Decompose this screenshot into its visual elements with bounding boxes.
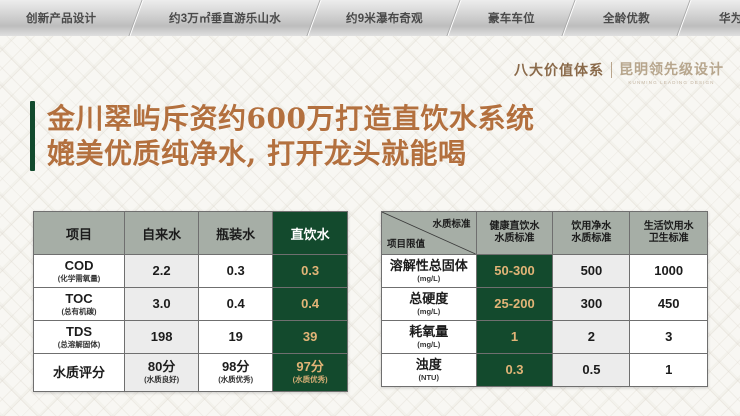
table-row: COD (化学需氧量) 2.2 0.3 0.3	[34, 255, 348, 288]
tab-label: 约9米瀑布奇观	[346, 10, 423, 26]
col-header-domestic-water-standard: 生活饮用水 卫生标准	[630, 212, 708, 255]
table-row: 水质评分 80分 (水质良好) 98分 (水质优秀) 97分 (水质优秀)	[34, 354, 348, 392]
row-label-toc: TOC (总有机碳)	[34, 288, 125, 321]
row-label-unit: (mg/L)	[382, 307, 476, 317]
row-label-unit: (mg/L)	[382, 274, 476, 284]
cell-bottled: 98分 (水质优秀)	[199, 354, 273, 392]
row-label-sub: (化学需氧量)	[34, 274, 124, 284]
table-header-row: 项目 自来水 瓶装水 直饮水	[34, 212, 348, 255]
row-label-unit: (NTU)	[382, 373, 476, 383]
col-header-tap-water: 自来水	[125, 212, 199, 255]
cell-tap: 80分 (水质良好)	[125, 354, 199, 392]
tab-label: 全龄优教	[603, 10, 650, 26]
tab-1[interactable]: 约3万㎡垂直游乐山水	[129, 0, 320, 36]
table-header-row: 水质标准 项目限值 健康直饮水 水质标准 饮用净水 水质标准 生活饮用水 卫生标…	[382, 212, 708, 255]
col-header-purified-water-standard: 饮用净水 水质标准	[553, 212, 630, 255]
cell-direct: 0.4	[273, 288, 348, 321]
cell-healthy: 25-200	[476, 288, 553, 321]
table-row: 总硬度 (mg/L) 25-200 300 450	[382, 288, 708, 321]
tab-0[interactable]: 创新产品设计	[0, 0, 143, 36]
table-row: 溶解性总固体 (mg/L) 50-300 500 1000	[382, 255, 708, 288]
tab-label: 豪车车位	[488, 10, 535, 26]
row-label-oxygen-consumption: 耗氧量 (mg/L)	[382, 321, 477, 354]
row-label-main: 溶解性总固体	[382, 259, 476, 273]
row-label-tds: TDS (总溶解固体)	[34, 321, 125, 354]
headline: 金川翠屿斥资约600万打造直饮水系统 媲美优质纯净水, 打开龙头就能喝	[30, 101, 534, 171]
brand-subtitle: 昆明领先级设计	[619, 60, 724, 78]
comparison-table-left: 项目 自来水 瓶装水 直饮水 COD (化学需氧量) 2.2 0.3 0.3	[33, 211, 348, 392]
tab-label: 约3万㎡垂直游乐山水	[169, 10, 281, 26]
headline-line-1: 金川翠屿斥资约600万打造直饮水系统	[47, 101, 534, 136]
cell-purified: 500	[553, 255, 630, 288]
cell-tap: 198	[125, 321, 199, 354]
row-label-main: COD	[34, 259, 124, 273]
tab-2[interactable]: 约9米瀑布奇观	[307, 0, 460, 36]
row-label-main: 水质评分	[34, 366, 124, 380]
cell-direct: 97分 (水质优秀)	[273, 354, 348, 392]
cell-direct: 39	[273, 321, 348, 354]
row-label-sub: (总有机碳)	[34, 307, 124, 317]
row-label-unit: (mg/L)	[382, 340, 476, 350]
col-header-healthy-direct-drinking-standard: 健康直饮水 水质标准	[476, 212, 553, 255]
brand-right: 昆明领先级设计 KUNMING LEADING DESIGN	[619, 60, 724, 85]
cell-tap: 2.2	[125, 255, 199, 288]
headline-text: 金川翠屿斥资约600万打造直饮水系统 媲美优质纯净水, 打开龙头就能喝	[47, 101, 534, 171]
brand-divider	[611, 62, 612, 78]
row-label-sub: (总溶解固体)	[34, 340, 124, 350]
table: 项目 自来水 瓶装水 直饮水 COD (化学需氧量) 2.2 0.3 0.3	[33, 211, 348, 392]
cell-bottled: 19	[199, 321, 273, 354]
cell-domestic: 1000	[630, 255, 708, 288]
table-row: TOC (总有机碳) 3.0 0.4 0.4	[34, 288, 348, 321]
cell-healthy: 1	[476, 321, 553, 354]
col-header-item: 项目	[34, 212, 125, 255]
brand-block: 八大价值体系 昆明领先级设计 KUNMING LEADING DESIGN	[514, 60, 724, 85]
tabstrip: 创新产品设计 约3万㎡垂直游乐山水 约9米瀑布奇观 豪车车位 全龄优教 华为全域…	[0, 0, 740, 36]
col-header-direct-drinking-water: 直饮水	[273, 212, 348, 255]
row-label-tds-dissolved-solids: 溶解性总固体 (mg/L)	[382, 255, 477, 288]
table-row: TDS (总溶解固体) 198 19 39	[34, 321, 348, 354]
cell-tap: 3.0	[125, 288, 199, 321]
table-row: 耗氧量 (mg/L) 1 2 3	[382, 321, 708, 354]
corner-header-bottom-label: 项目限值	[387, 236, 425, 250]
corner-header-diagonal: 水质标准 项目限值	[382, 212, 477, 255]
brand-main-title: 八大价值体系	[514, 60, 604, 80]
cell-bottled: 0.4	[199, 288, 273, 321]
standards-table-right: 水质标准 项目限值 健康直饮水 水质标准 饮用净水 水质标准 生活饮用水 卫生标…	[381, 211, 708, 387]
table-row: 浊度 (NTU) 0.3 0.5 1	[382, 354, 708, 387]
cell-domestic: 3	[630, 321, 708, 354]
cell-healthy: 50-300	[476, 255, 553, 288]
row-label-turbidity: 浊度 (NTU)	[382, 354, 477, 387]
cell-domestic: 1	[630, 354, 708, 387]
row-label-main: 总硬度	[382, 292, 476, 306]
cell-purified: 300	[553, 288, 630, 321]
cell-bottled: 0.3	[199, 255, 273, 288]
tab-label: 创新产品设计	[26, 10, 96, 26]
tab-4[interactable]: 全龄优教	[562, 0, 690, 36]
col-header-bottled-water: 瓶装水	[199, 212, 273, 255]
brand-subtitle-en: KUNMING LEADING DESIGN	[628, 80, 714, 85]
cell-purified: 0.5	[553, 354, 630, 387]
tab-3[interactable]: 豪车车位	[447, 0, 575, 36]
row-label-main: 耗氧量	[382, 325, 476, 339]
tab-label: 华为全域智能	[719, 10, 740, 26]
row-label-main: TOC	[34, 292, 124, 306]
cell-domestic: 450	[630, 288, 708, 321]
cell-healthy: 0.3	[476, 354, 553, 387]
row-label-main: TDS	[34, 325, 124, 339]
row-label-water-score: 水质评分	[34, 354, 125, 392]
row-label-main: 浊度	[382, 358, 476, 372]
row-label-cod: COD (化学需氧量)	[34, 255, 125, 288]
row-label-total-hardness: 总硬度 (mg/L)	[382, 288, 477, 321]
corner-header-top-label: 水质标准	[433, 216, 471, 230]
cell-purified: 2	[553, 321, 630, 354]
cell-direct: 0.3	[273, 255, 348, 288]
headline-accent-bar	[30, 101, 35, 171]
headline-line-2: 媲美优质纯净水, 打开龙头就能喝	[47, 136, 534, 171]
table: 水质标准 项目限值 健康直饮水 水质标准 饮用净水 水质标准 生活饮用水 卫生标…	[381, 211, 708, 387]
